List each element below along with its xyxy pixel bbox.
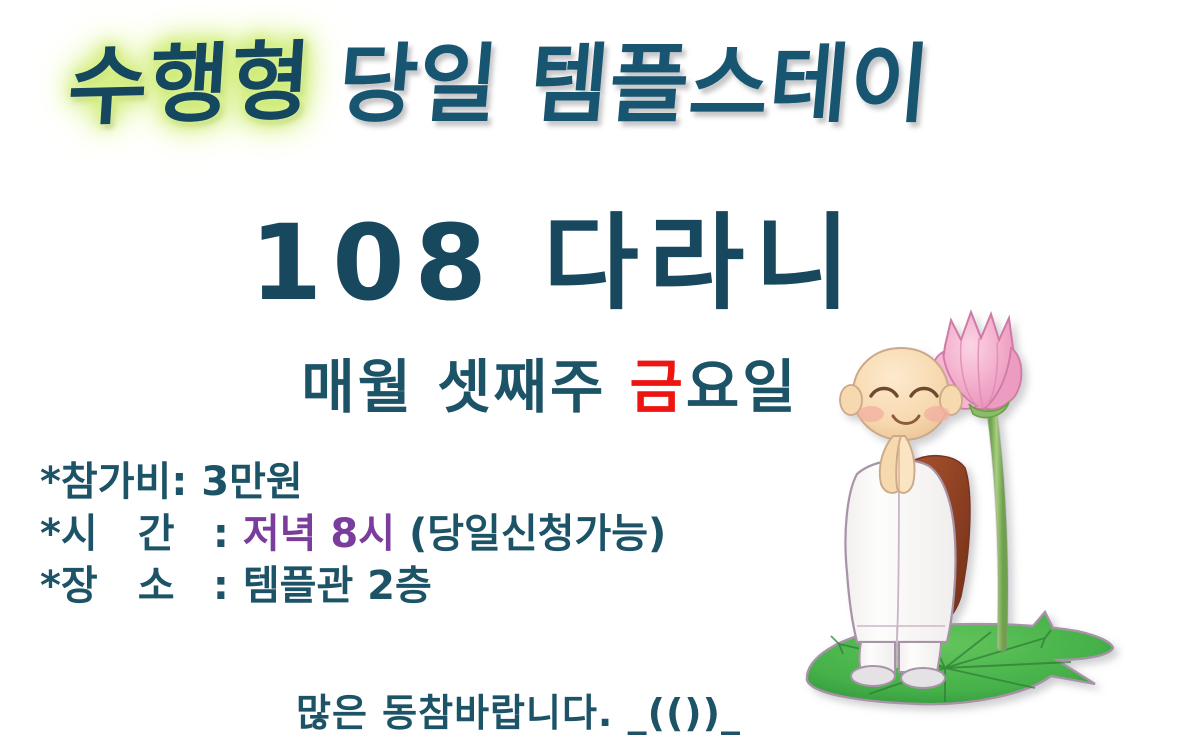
detail-value-fee: 3만원 — [201, 459, 302, 505]
detail-colon-fee: : — [171, 459, 187, 505]
monk-on-lotus-illustration — [795, 296, 1125, 726]
detail-label-place: 장 소 — [61, 560, 213, 612]
dateline-prefix: 매월 셋째주 — [301, 353, 629, 421]
detail-colon-time: : — [213, 511, 229, 557]
poster-title: 수행형 당일 템플스테이 — [0, 16, 1000, 136]
dateline-highlight-friday: 금 — [630, 353, 686, 421]
detail-list: *참가비: 3만원 *시 간: 저녁 8시 (당일신청가능) *장 소: 템플관… — [40, 456, 666, 612]
detail-row-place: *장 소: 템플관 2층 — [40, 560, 666, 612]
detail-colon-place: : — [213, 563, 229, 609]
closing-message: 많은 동참바랍니다. _(())_ — [296, 682, 741, 737]
dateline-suffix: 요일 — [686, 353, 799, 421]
title-highlight-word: 수행형 — [65, 11, 317, 142]
detail-value-place: 템플관 2층 — [243, 563, 432, 609]
detail-label-time: 시 간 — [61, 508, 213, 560]
title-rest-text: 당일 템플스테이 — [333, 14, 936, 139]
detail-label-fee: 참가비 — [61, 456, 171, 508]
bullet-star-icon: * — [40, 563, 61, 609]
detail-value-time-highlight: 저녁 8시 — [243, 511, 395, 557]
bullet-star-icon: * — [40, 511, 61, 557]
detail-row-fee: *참가비: 3만원 — [40, 456, 666, 508]
detail-value-time-note: (당일신청가능) — [395, 511, 666, 557]
bullet-star-icon: * — [40, 459, 61, 505]
poster-canvas: 수행형 당일 템플스테이 108 다라니 매월 셋째주 금요일 *참가비: 3만… — [0, 0, 1197, 754]
detail-row-time: *시 간: 저녁 8시 (당일신청가능) — [40, 508, 666, 560]
